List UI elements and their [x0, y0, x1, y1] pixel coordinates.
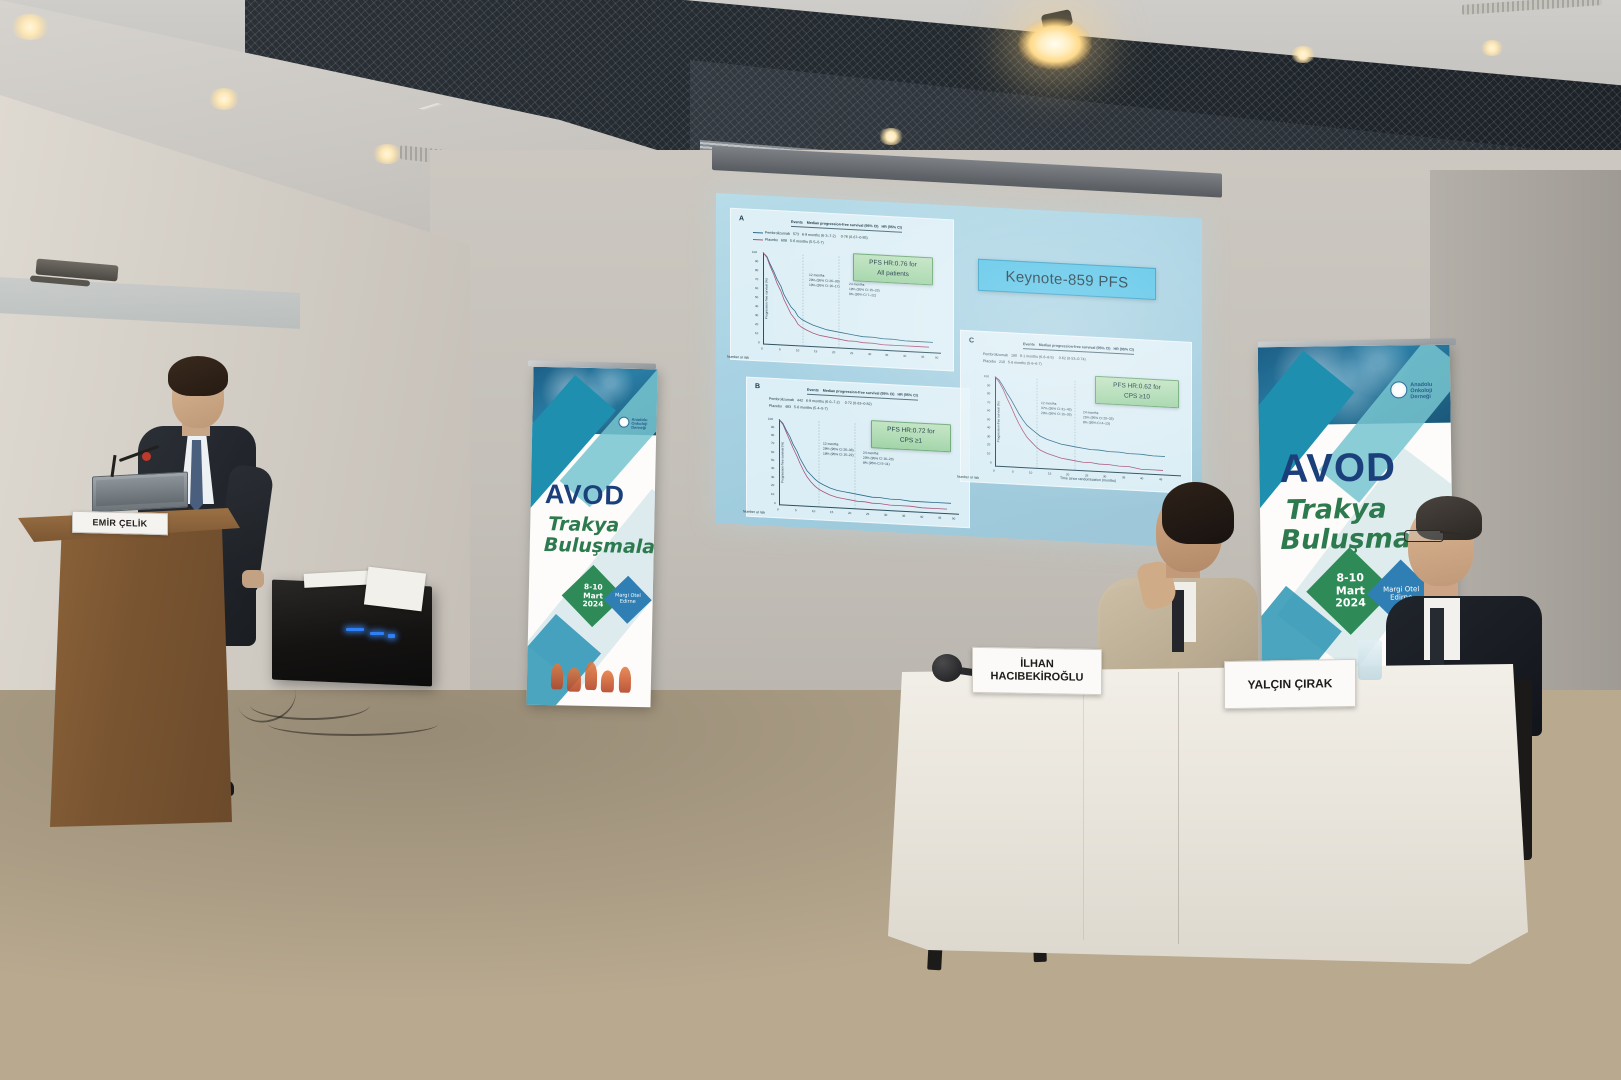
col-hr: HR (95% CI) [882, 225, 902, 230]
tablecloth-fold [1178, 672, 1179, 944]
banner-left-tagline-1: Trakya [548, 513, 619, 536]
slide-title-box: Keynote-859 PFS [978, 259, 1156, 300]
col-median-pfs: Median progression-free survival (95% CI… [807, 221, 879, 229]
panel-c-letter: C [969, 337, 974, 344]
panelist-2-necktie [1430, 608, 1444, 666]
nameplate-yalcin-cirak: YALÇIN ÇIRAK [1224, 659, 1356, 709]
nameplate-1-line2: HACIBEKİROĞLU [991, 670, 1084, 685]
panel-c-km-plot: Progression-free survival (%) 100 90 80 … [995, 377, 1181, 477]
laptop-screen [96, 476, 184, 507]
panelist-1-hair [1162, 482, 1234, 544]
av-status-led-icon [388, 634, 395, 638]
panel-a-risk-label: Number at risk [727, 355, 749, 360]
banner-left-cityscape-icon [601, 670, 614, 692]
speaker-hair [168, 356, 228, 396]
slide-panel-c: C Events Median progression-free surviva… [960, 330, 1192, 494]
panel-c-curve-placebo [995, 377, 1163, 471]
conference-room-photo: A Events Median progression-free surviva… [0, 0, 1621, 1080]
col-events: Events [791, 220, 803, 225]
panel-a-km-plot: Progression-free survival (%) 100 90 80 … [763, 252, 941, 353]
podium-microphone-windscreen-icon [142, 452, 151, 461]
panel-a-table-header: Events Median progression-free survival … [791, 220, 902, 233]
banner-left-cityscape-icon [619, 667, 632, 693]
ceiling-downlight-icon [10, 14, 50, 40]
panel-c-curve-pembrolizumab [995, 377, 1165, 457]
banner-left-avod-wordmark: AVOD [545, 479, 626, 512]
papers-on-equipment [364, 567, 426, 612]
floor-cable [268, 712, 438, 736]
tablecloth-fold [1083, 670, 1084, 940]
presenter-laptop[interactable] [92, 471, 188, 512]
org-logo-label: Anadolu Onkoloji Derneği [1410, 383, 1446, 401]
legend-swatch-placebo [753, 238, 763, 240]
banner-left-cityscape-icon [551, 663, 564, 689]
panel-a-letter: A [739, 215, 744, 222]
org-logo-label: Anadolu Onkoloji Derneği [631, 418, 655, 431]
panel-b-risk-label: Number at risk [743, 509, 765, 514]
panel-b-letter: B [755, 383, 760, 390]
panel-a-curve-placebo [763, 252, 929, 347]
table-microphone-icon[interactable] [932, 654, 962, 682]
panel-table [888, 664, 1528, 964]
podium [50, 522, 232, 827]
nameplate-ilhan-hacibekiroglu: İLHAN HACIBEKİROĞLU [972, 647, 1102, 695]
nameplate-2-line1: YALÇIN ÇIRAK [1248, 676, 1333, 692]
ceiling-downlight-icon [1480, 40, 1504, 56]
banner-right-avod-wordmark: AVOD [1279, 445, 1396, 492]
banner-left: Anadolu Onkoloji Derneği AVOD Trakya Bul… [526, 367, 657, 708]
ceiling-spotlight-icon [1018, 18, 1092, 70]
date-line-1: 8-10 [1335, 572, 1366, 585]
panel-c-row-placebo: Placebo 210 5·6 months (5·6–6·7) [983, 359, 1042, 367]
panel-b-row-placebo: Placebo 483 5·6 months (5·4–5·7) [769, 404, 828, 412]
water-glass [1358, 640, 1382, 680]
panel-a-annotation-24mo: 24 months 18% (95% CI 15–23) 9% (95% CI … [849, 282, 880, 298]
panel-c-annotation-24mo: 24 months 25% (95% CI 20–33) 8% (95% CI … [1083, 410, 1114, 426]
speaker-right-hand [242, 570, 264, 588]
ceiling-downlight-icon [1290, 46, 1316, 63]
banner-left-tagline-2: Buluşmaları [544, 534, 658, 559]
legend-swatch-pembrolizumab [753, 231, 763, 233]
slide-panel-a: A Events Median progression-free surviva… [730, 208, 954, 372]
panel-b-annotation-12mo: 12 months 29% (95% CI 26–33) 18% (95% CI… [823, 442, 854, 458]
location-line-2: Edirne [615, 599, 641, 605]
panel-b-km-plot: Progression-free survival (%) 100 90 80 … [779, 419, 959, 514]
panel-b-annotation-24mo: 24 months 20% (95% CI 16–23) 8% (95% CI … [863, 451, 894, 467]
panelist-2-glasses-icon [1404, 530, 1444, 542]
panel-c-risk-label: Number at risk [957, 475, 979, 480]
panel-c-annotation-12mo: 12 months 37% (95% CI 31–43) 20% (95% CI… [1041, 401, 1072, 417]
ceiling-downlight-icon [878, 128, 904, 145]
banner-left-cityscape-icon [585, 662, 598, 690]
av-status-led-icon [346, 628, 364, 631]
date-line-3: 2024 [1335, 597, 1366, 610]
panel-a-annotation-12mo: 12 months 29% (95% CI 26–33) 19% (95% CI… [809, 273, 840, 289]
ceiling-downlight-icon [372, 144, 402, 164]
panel-a-curve-pembrolizumab [763, 252, 933, 342]
panel-c-table-header: Events Median progression-free survival … [1023, 342, 1134, 355]
ceiling-downlight-icon [208, 88, 240, 110]
podium-nameplate: EMİR ÇELİK [72, 511, 168, 536]
speaker-necktie [190, 440, 203, 512]
banner-left-cityscape-icon [567, 668, 581, 692]
date-line-3: 2024 [582, 600, 603, 609]
slide-panel-b: B Events Median progression-free surviva… [746, 377, 970, 529]
av-status-led-icon [370, 632, 384, 635]
